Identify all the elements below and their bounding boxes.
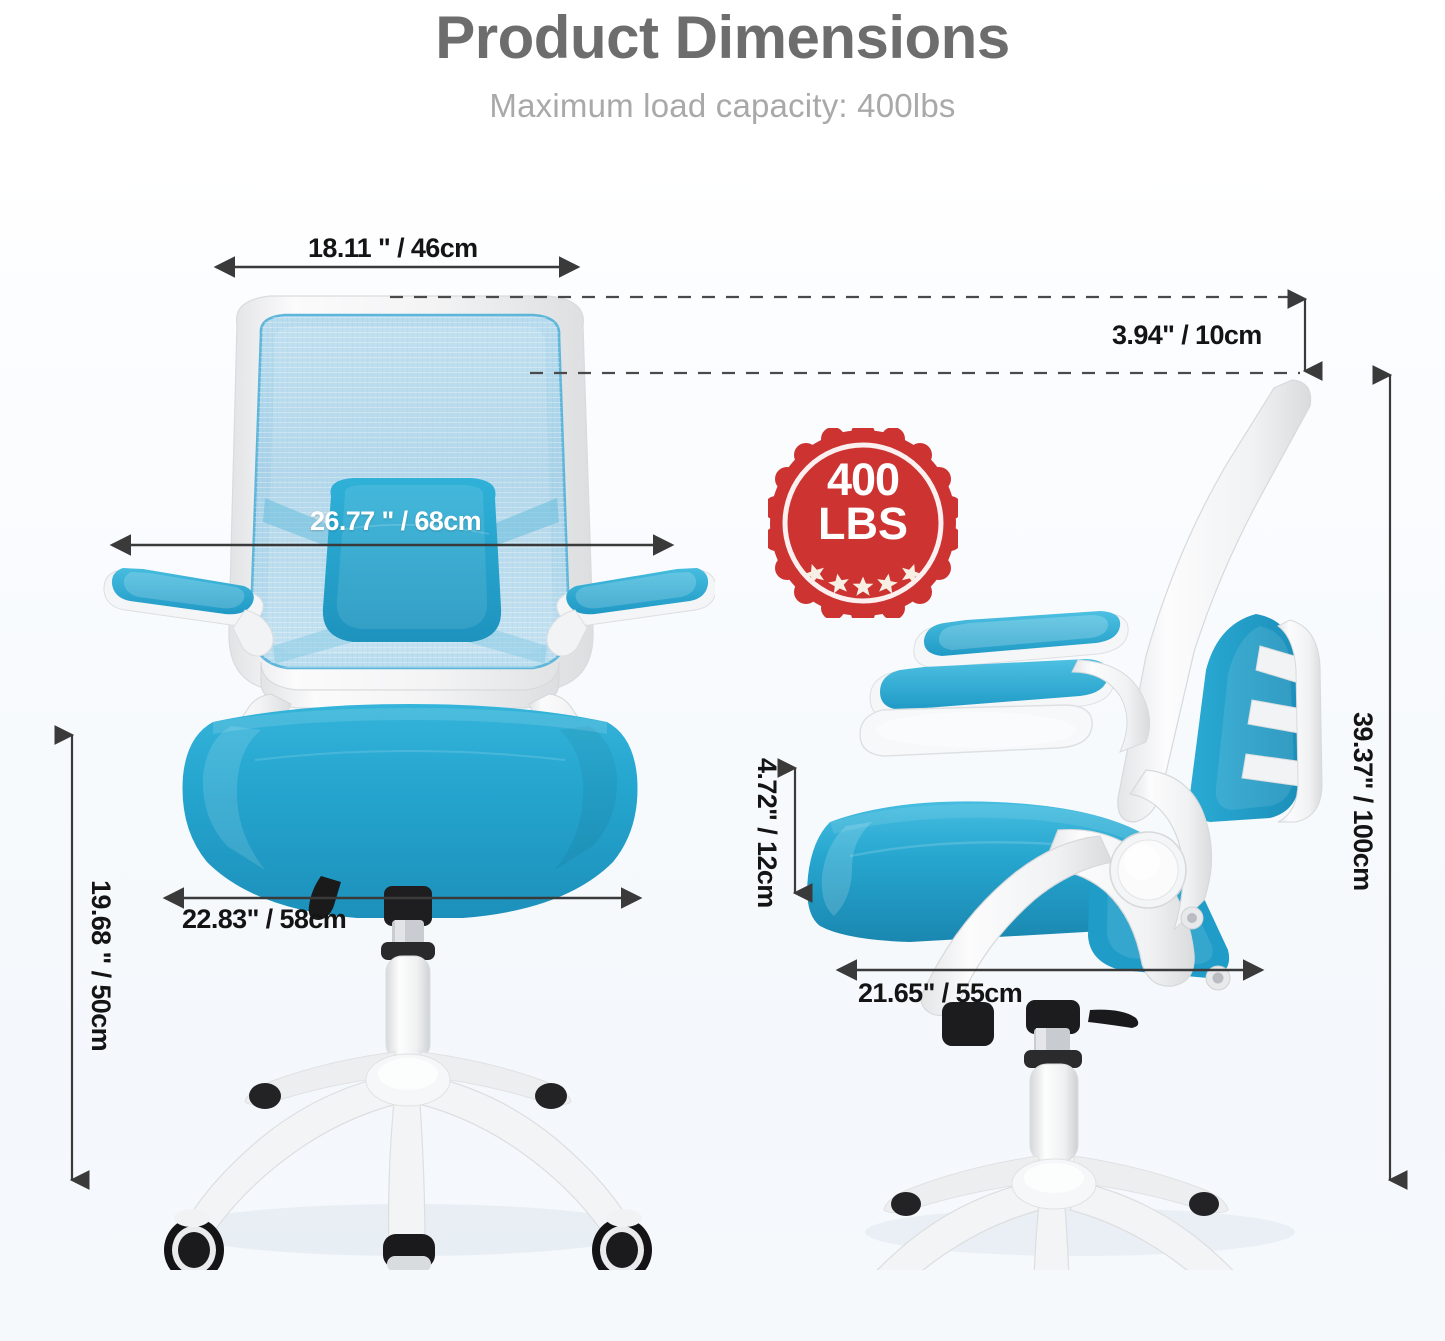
badge-text: 400 LBS (768, 428, 958, 618)
load-capacity-badge: 400 LBS (768, 428, 958, 618)
dimension-label-seat-depth: 21.65" / 55cm (858, 978, 1022, 1009)
dimension-label-back-width: 18.11 " / 46cm (308, 233, 478, 264)
front-view-chair (95, 290, 715, 1270)
dimension-label-seat-height: 19.68 " / 50cm (85, 880, 116, 1051)
page-subtitle: Maximum load capacity: 400lbs (0, 69, 1445, 125)
dimension-label-base-width: 22.83" / 58cm (182, 904, 346, 935)
dimension-label-seat-thickness: 4.72" / 12cm (751, 758, 782, 908)
badge-number: 400 (827, 458, 899, 502)
badge-unit: LBS (818, 502, 908, 546)
dimension-label-total-height: 39.37" / 100cm (1347, 712, 1378, 891)
dimension-label-armrest-gap: 3.94" / 10cm (1112, 320, 1262, 351)
page-title: Product Dimensions (0, 0, 1445, 69)
dimension-label-overall-width: 26.77 " / 68cm (310, 506, 481, 537)
product-dimensions-infographic: Product Dimensions Maximum load capacity… (0, 0, 1445, 1341)
header: Product Dimensions Maximum load capacity… (0, 0, 1445, 125)
